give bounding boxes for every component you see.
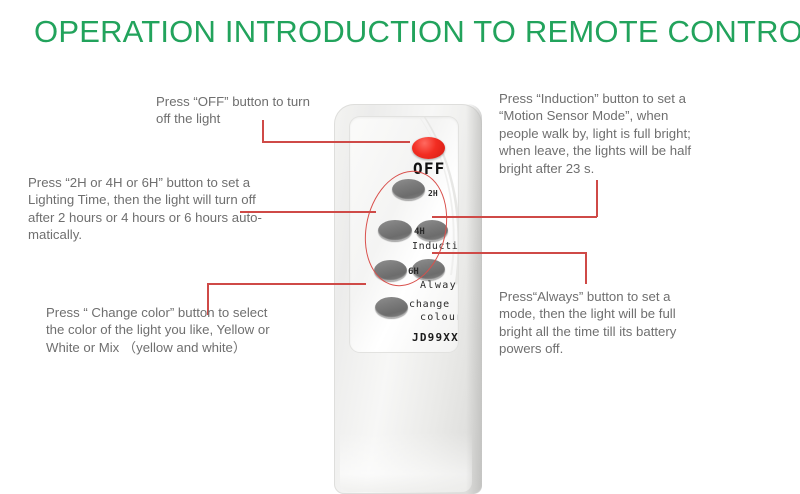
always-button-label: Always	[420, 280, 458, 291]
induction-leader-line-horizontal	[432, 216, 597, 218]
note-always-button: Press“Always” button to set a mode, then…	[499, 288, 749, 358]
model-number-label: JD99XX	[412, 331, 458, 344]
page-title: OPERATION INTRODUCTION TO REMOTE CONTROL	[34, 14, 800, 50]
off-leader-line-horizontal	[262, 141, 410, 143]
always-leader-line-horizontal	[432, 252, 586, 254]
diagram-canvas: OPERATION INTRODUCTION TO REMOTE CONTROL…	[0, 0, 800, 494]
change-button-label: change	[409, 299, 450, 310]
induction-leader-line-vertical	[596, 180, 598, 217]
off-button[interactable]	[412, 137, 445, 159]
remote-body-highlight	[340, 432, 472, 492]
note-off-button: Press “OFF” button to turn off the light	[156, 93, 356, 128]
note-timer-buttons: Press “2H or 4H or 6H” button to set a L…	[28, 174, 328, 244]
change-colour-button[interactable]	[375, 297, 408, 318]
remote-control-device: OFF 2H 4H 6H Induction Always change col…	[334, 104, 482, 494]
note-change-colour-button: Press “ Change color” button to select t…	[46, 304, 346, 356]
change-colour-leader-line-horizontal	[207, 283, 366, 285]
always-leader-line-vertical	[585, 252, 587, 284]
colour-button-label: colour	[420, 312, 458, 323]
note-induction-button: Press “Induction” button to set a “Motio…	[499, 90, 744, 177]
